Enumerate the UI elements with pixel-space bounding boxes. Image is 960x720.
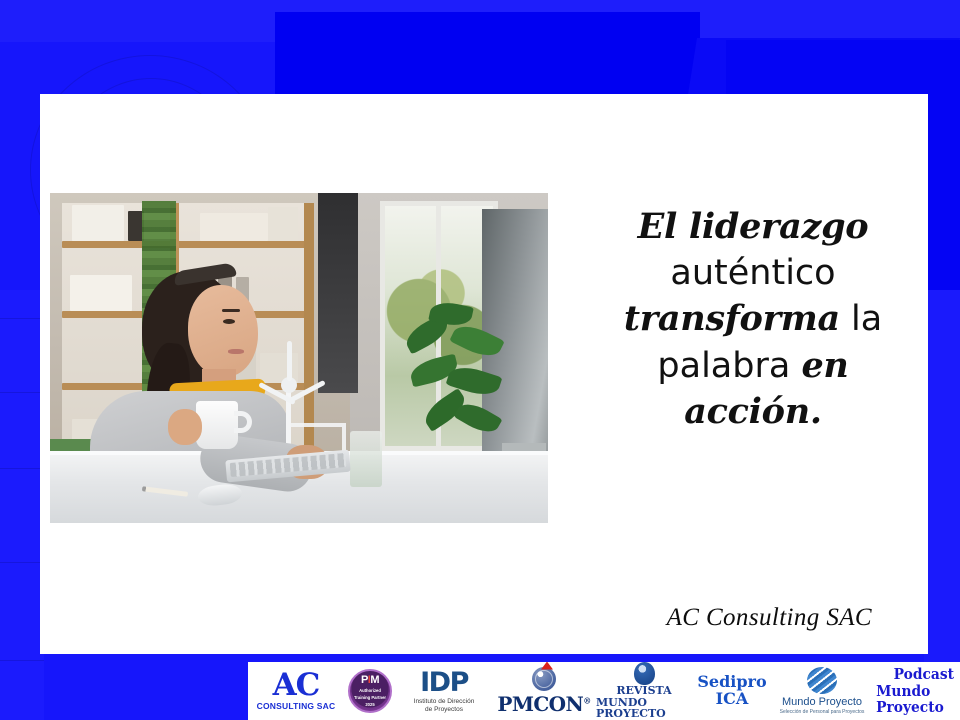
ac-logo-mark: AC: [273, 671, 320, 700]
pmcon-red-accent-icon: [541, 662, 553, 670]
logo-pmcon[interactable]: PMCON®: [492, 662, 596, 720]
quote-text: El liderazgo auténtico transforma la pal…: [588, 204, 918, 435]
quote-line-2-plain: auténtico: [670, 253, 835, 293]
logo-podcast-mundo-proyecto[interactable]: Podcast Mundo Proyecto: [872, 662, 960, 720]
podcast-line-2: Mundo Proyecto: [876, 683, 960, 716]
photo-wind-turbine-hub: [281, 377, 297, 393]
background-line-4: [0, 562, 44, 563]
mundo-proyecto-line-1: Mundo Proyecto: [782, 696, 862, 708]
logo-revista-mundo-proyecto[interactable]: REVISTA MUNDO PROYECTO: [596, 662, 692, 720]
photo-water-glass: [350, 431, 382, 487]
photo-dark-panel: [318, 193, 358, 393]
photo-person-face: [188, 285, 258, 377]
signature-text: AC Consulting SAC: [667, 604, 872, 632]
photo-shelf-board: [62, 241, 312, 248]
photo-person-hand-holding-mug: [168, 409, 202, 445]
pmi-mark: PIM: [361, 675, 379, 686]
background-right-strip: [924, 290, 960, 720]
logo-pmi-authorized-training-partner[interactable]: PIM Authorized Training Partner 2025: [344, 662, 396, 720]
quote-line-1: El liderazgo: [588, 204, 918, 250]
mundo-proyecto-line-2: Selección de Personal para Proyectos: [780, 709, 865, 715]
quote-line-3: transforma la: [588, 296, 918, 343]
ac-logo-subtitle: CONSULTING SAC: [257, 701, 336, 711]
background-line-2: [0, 392, 44, 393]
photo-shelf-item: [268, 207, 298, 241]
background-left-strip: [0, 290, 44, 720]
photo-shelf-item: [200, 213, 268, 241]
podcast-line-1: Podcast: [894, 666, 954, 683]
quote-line-1-emphasis: El liderazgo: [638, 206, 869, 247]
quote-line-3-plain: la: [840, 299, 882, 339]
photo-person-brow: [222, 309, 240, 312]
logo-idp[interactable]: IDP Instituto de Dirección de Proyectos: [396, 662, 492, 720]
background-line-5: [0, 660, 44, 661]
revista-globe-icon: [634, 662, 655, 685]
quote-line-5: acción.: [588, 389, 918, 435]
photo-person-eye: [223, 319, 235, 324]
quote-line-4-emphasis: en: [801, 345, 848, 386]
pmcon-logo-mark: PMCON®: [497, 692, 590, 716]
sedipro-line-2: ICA: [716, 691, 749, 708]
pmi-seal-icon: PIM Authorized Training Partner 2025: [348, 669, 392, 713]
pmi-mark-accent: I: [368, 674, 371, 686]
photo-coffee-mug: [196, 401, 238, 449]
logo-sedipro-ica[interactable]: Sedipro ICA: [692, 662, 772, 720]
background-line-3: [0, 468, 44, 469]
quote-line-2: auténtico: [588, 250, 918, 297]
content-card: El liderazgo auténtico transforma la pal…: [40, 94, 928, 654]
quote-line-4-plain: palabra: [657, 346, 801, 386]
quote-line-5-emphasis: acción.: [684, 391, 821, 432]
partner-logo-bar: AC CONSULTING SAC PIM Authorized Trainin…: [248, 662, 960, 720]
revista-line-2: MUNDO PROYECTO: [596, 697, 692, 720]
pmcon-trademark: ®: [583, 695, 590, 705]
photo-shelf-item: [70, 275, 132, 311]
quote-line-3-emphasis: transforma: [624, 298, 840, 339]
background-line-1: [0, 318, 44, 319]
photo-shelf-item: [72, 205, 124, 241]
photo-desk-plant: [400, 303, 510, 453]
idp-logo-line-2: de Proyectos: [425, 706, 463, 714]
quote-line-4: palabra en: [588, 343, 918, 390]
pmi-line-3: 2025: [365, 702, 374, 707]
pmcon-wordmark: PMCON: [497, 692, 583, 716]
idp-logo-line-1: Instituto de Dirección: [414, 698, 475, 706]
office-photo: [50, 193, 548, 523]
logo-ac-consulting-sac[interactable]: AC CONSULTING SAC: [248, 662, 344, 720]
logo-mundo-proyecto[interactable]: Mundo Proyecto Selección de Personal par…: [772, 662, 872, 720]
photo-person-lips: [228, 349, 244, 354]
pmcon-globe-icon: [532, 667, 556, 691]
idp-logo-mark: IDP: [420, 669, 468, 696]
pmi-line-2: Training Partner: [354, 695, 386, 700]
pmi-line-1: Authorized: [359, 688, 381, 693]
mundo-proyecto-sphere-icon: [807, 667, 837, 694]
